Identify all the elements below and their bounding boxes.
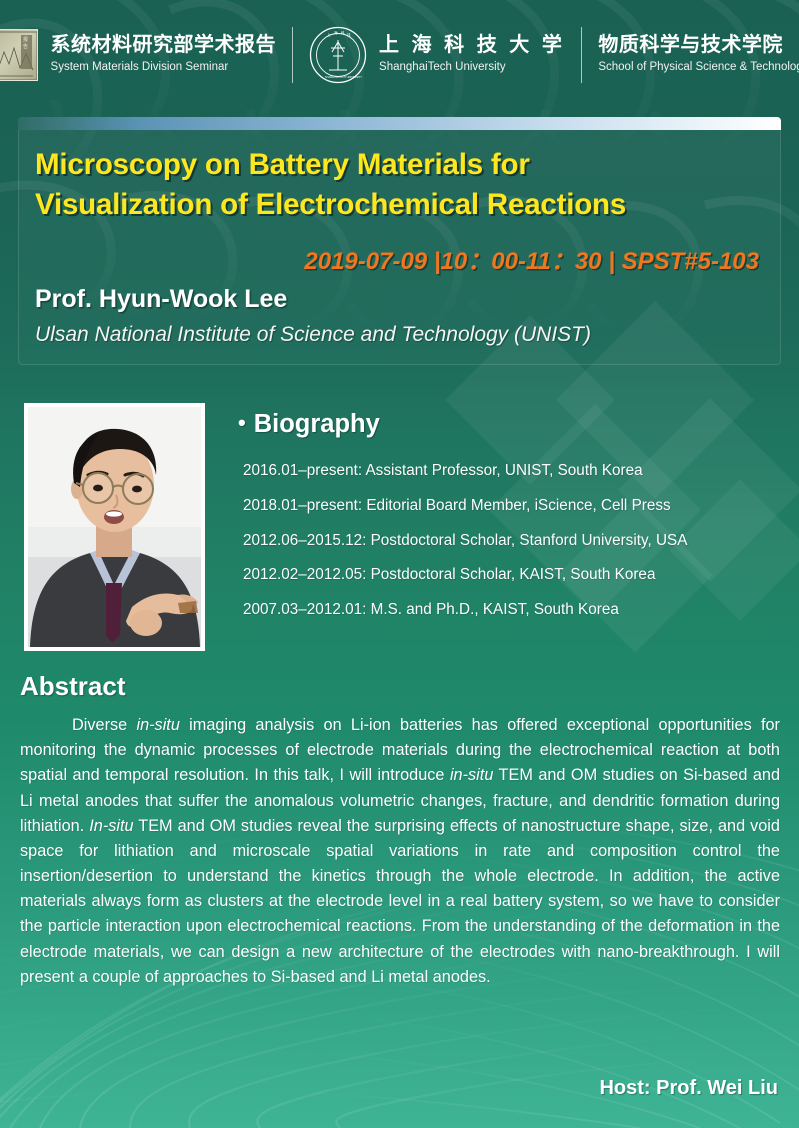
list-item: 2018.01–present: Editorial Board Member,… [243, 498, 788, 513]
talk-datetime-location: 2019-07-09 |10：00-11：30 | SPST#5-103 [304, 241, 759, 276]
speaker-photo-frame [24, 403, 205, 651]
header-divider-1 [292, 27, 293, 83]
biography-list: 2016.01–present: Assistant Professor, UN… [243, 463, 788, 637]
poster-header: 报 告 系统材料研究部学术报告 System Materials Divisio… [0, 0, 799, 110]
svg-text:海: 海 [334, 30, 338, 35]
talk-title: Microscopy on Battery Materials for Visu… [35, 145, 765, 225]
bullet-icon: • [238, 410, 246, 435]
biography-heading-label: Biography [254, 410, 380, 438]
speaker-photo [28, 407, 201, 647]
list-item: 2012.02–2012.05: Postdoctoral Scholar, K… [243, 567, 788, 582]
accent-gradient-bar [18, 117, 781, 130]
svg-text:告: 告 [23, 43, 28, 50]
abstract-heading: Abstract [20, 671, 125, 702]
title-panel: Microscopy on Battery Materials for Visu… [18, 117, 781, 365]
svg-text:上: 上 [327, 32, 331, 37]
university-seal-icon: 上海科技 SHANGHAITECH UNIVERSITY [309, 26, 367, 84]
header-school-block: 物质科学与技术学院 School of Physical Science & T… [598, 34, 799, 75]
svg-text:科: 科 [341, 30, 345, 35]
svg-text:SHANGHAITECH UNIVERSITY: SHANGHAITECH UNIVERSITY [325, 75, 362, 79]
biography-heading: •Biography [238, 410, 380, 439]
talk-title-line1: Microscopy on Battery Materials for [35, 145, 765, 185]
seminar-poster: 报 告 系统材料研究部学术报告 System Materials Divisio… [0, 0, 799, 1128]
list-item: 2007.03–2012.01: M.S. and Ph.D., KAIST, … [243, 602, 788, 617]
svg-text:报: 报 [23, 36, 28, 43]
speaker-name: Prof. Hyun-Wook Lee [35, 285, 287, 314]
seminar-title-cn: 系统材料研究部学术报告 [51, 34, 277, 57]
list-item: 2016.01–present: Assistant Professor, UN… [243, 463, 788, 478]
speaker-affiliation: Ulsan National Institute of Science and … [35, 323, 591, 347]
host-label: Host: Prof. Wei Liu [599, 1077, 778, 1100]
university-name-cn: 上 海 科 技 大 学 [379, 34, 565, 57]
talk-title-line2: Visualization of Electrochemical Reactio… [35, 185, 765, 225]
list-item: 2012.06–2015.12: Postdoctoral Scholar, S… [243, 533, 788, 548]
svg-text:技: 技 [347, 32, 351, 37]
header-divider-2 [581, 27, 582, 83]
book-cover-icon: 报 告 [0, 29, 38, 81]
school-name-en: School of Physical Science & Technology [598, 59, 799, 75]
header-university-block: 上海科技 SHANGHAITECH UNIVERSITY 上 海 科 技 大 学… [309, 26, 565, 84]
header-seminar-block: 报 告 系统材料研究部学术报告 System Materials Divisio… [0, 29, 276, 81]
abstract-body: Diverse in-situ imaging analysis on Li-i… [20, 713, 780, 990]
seminar-title-en: System Materials Division Seminar [51, 59, 277, 75]
school-name-cn: 物质科学与技术学院 [598, 34, 799, 57]
university-name-en: ShanghaiTech University [379, 59, 565, 75]
